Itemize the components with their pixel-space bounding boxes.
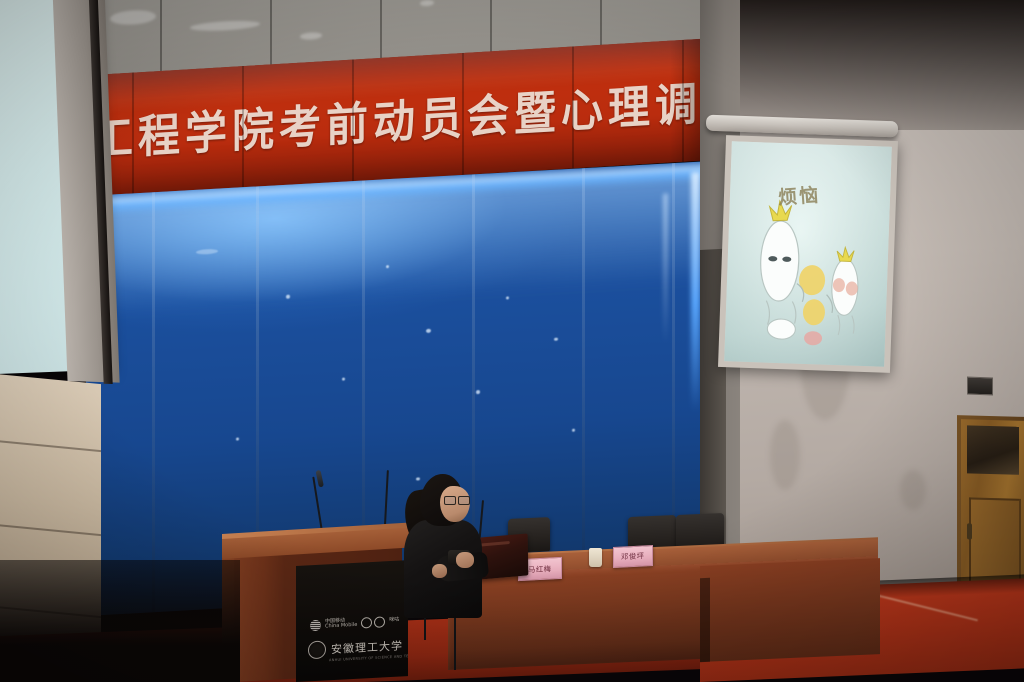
migu-icon-1 bbox=[361, 617, 372, 629]
china-mobile-label-en: China Mobile bbox=[325, 623, 357, 630]
water-cup bbox=[589, 548, 602, 567]
led-vertical-strip-secondary bbox=[663, 193, 668, 343]
speaker-hand-left bbox=[432, 564, 447, 578]
podium-sponsor-row: 中国移动 China Mobile 咪咕 bbox=[310, 612, 402, 633]
door-sign bbox=[967, 377, 993, 396]
nameplate-right-text: 邓俊坪 bbox=[621, 551, 644, 562]
university-seal-icon bbox=[308, 640, 326, 659]
podium-sponsor-banner: 中国移动 China Mobile 咪咕 安徽理工大学 ANHUI UNIVER… bbox=[296, 560, 408, 682]
led-vertical-strip bbox=[691, 172, 700, 413]
right-wall-shadow bbox=[740, 0, 1024, 130]
china-mobile-icon bbox=[310, 619, 321, 631]
foreground-shadow bbox=[0, 560, 240, 682]
nameplate-right: 邓俊坪 bbox=[613, 545, 653, 568]
speaker-glasses bbox=[444, 496, 470, 504]
speaker-hand-right bbox=[456, 552, 474, 568]
main-projection-screen: 烦恼 bbox=[718, 135, 898, 373]
auditorium-stage-photo: 学工程学院考前动员会暨心理调适专题讲座 bbox=[0, 0, 1024, 682]
projection-surface: 烦恼 bbox=[724, 141, 892, 366]
migu-icon-group bbox=[361, 616, 385, 628]
speaker-presenter bbox=[396, 468, 516, 618]
nameplate-left-text: 马红梅 bbox=[528, 563, 551, 574]
slide-illustration bbox=[724, 141, 892, 366]
head-table-front-right bbox=[700, 558, 880, 662]
china-mobile-label: 中国移动 China Mobile bbox=[325, 618, 357, 630]
migu-icon-2 bbox=[374, 616, 385, 628]
door-glass-panel bbox=[967, 425, 1019, 474]
table-joint-shadow bbox=[700, 578, 710, 662]
door-handle[interactable] bbox=[967, 523, 972, 539]
slide-title-text: 烦恼 bbox=[777, 180, 821, 210]
migu-label: 咪咕 bbox=[389, 618, 399, 624]
